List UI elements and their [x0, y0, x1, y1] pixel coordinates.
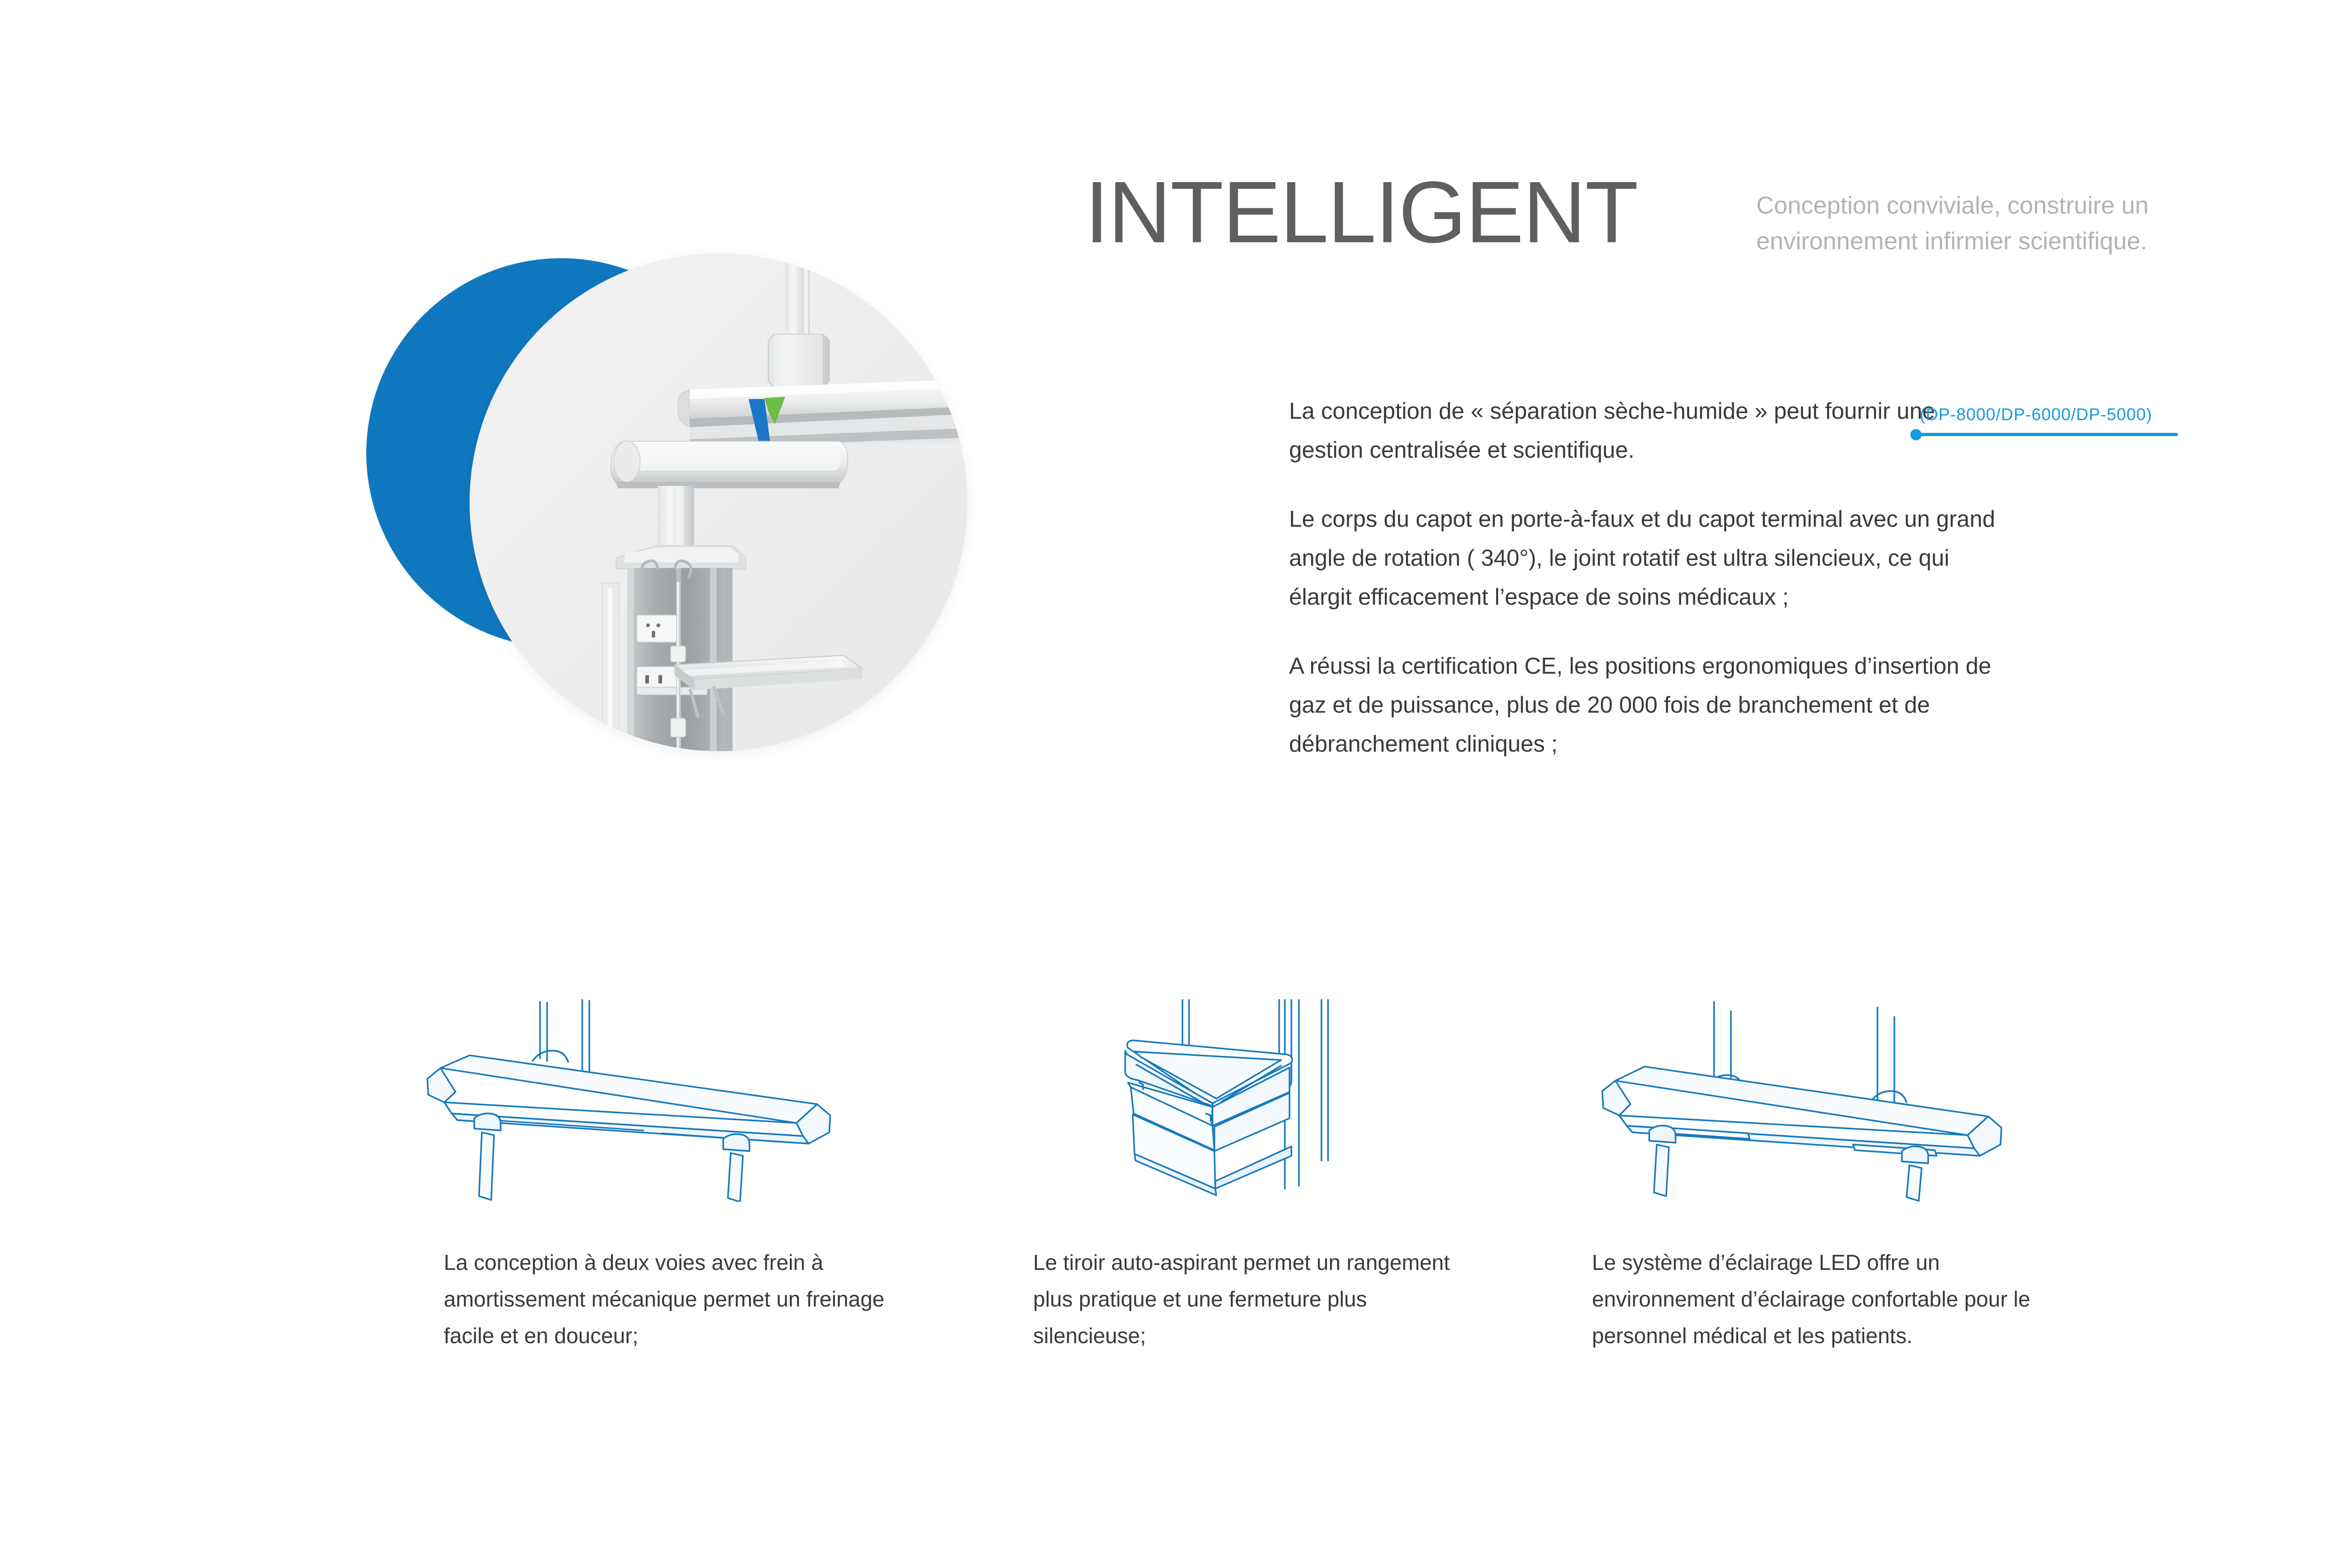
paragraph-3: A réussi la certification CE, les positi… — [1289, 647, 2003, 764]
product-visual: DAVID — [329, 211, 1127, 915]
feature-item-3: Le système d’éclairage LED offre un envi… — [1573, 995, 2160, 1512]
feature-caption-1: La conception à deux voies avec frein à … — [444, 1244, 913, 1354]
annotation-rule — [1915, 433, 2178, 436]
feature-row: La conception à deux voies avec frein à … — [0, 995, 2348, 1512]
paragraph-2: Le corps du capot en porte-à-faux et du … — [1289, 500, 2003, 617]
product-code-label: (DP-8000/DP-6000/DP-5000) — [1920, 405, 2152, 424]
feature-caption-2: Le tiroir auto-aspirant permet un rangem… — [1033, 1244, 1465, 1354]
title-row: INTELLIGENT Conception conviviale, const… — [1085, 169, 2348, 282]
product-code-annotation: (DP-8000/DP-6000/DP-5000) — [1910, 405, 2183, 447]
feature-item-1: La conception à deux voies avec frein à … — [399, 995, 986, 1512]
slide-root: DAVID — [0, 0, 2348, 1568]
paragraph-1: La conception de « séparation sèche-humi… — [1289, 392, 2003, 470]
body-copy: La conception de « séparation sèche-humi… — [1289, 392, 2003, 764]
product-photo-circle: DAVID — [470, 254, 967, 751]
feature-item-2: Le tiroir auto-aspirant permet un rangem… — [1000, 995, 1587, 1512]
ceiling-rail-bridge-icon — [399, 995, 869, 1202]
drawer-unit-icon — [1047, 995, 1376, 1202]
product-photo: DAVID — [470, 254, 967, 751]
feature-caption-3: Le système d’éclairage LED offre un envi… — [1592, 1244, 2076, 1354]
page-subtitle: Conception conviviale, construire un env… — [1756, 188, 2282, 259]
led-light-rail-icon — [1573, 995, 2043, 1202]
page-title: INTELLIGENT — [1085, 169, 1637, 256]
